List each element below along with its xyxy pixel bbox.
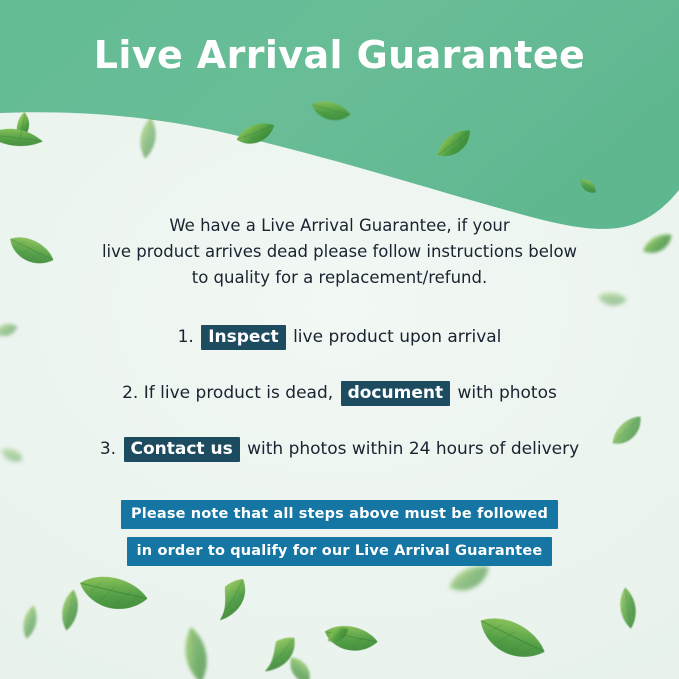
live-arrival-guarantee-poster: Live Arrival Guarantee We have a Live Ar… <box>0 0 679 679</box>
step-3-post-text: with photos within 24 hours of delivery <box>247 439 579 459</box>
intro-line-1: We have a Live Arrival Guarantee, if you… <box>0 213 679 239</box>
footer-note-line-2: in order to qualify for our Live Arrival… <box>127 537 553 566</box>
step-2-post-text: with photos <box>458 383 557 403</box>
step-item-2: 2. If live product is dead, document wit… <box>0 378 679 434</box>
content-area: We have a Live Arrival Guarantee, if you… <box>0 0 679 679</box>
intro-line-3: to quality for a replacement/refund. <box>0 265 679 291</box>
footer-note-line-1: Please note that all steps above must be… <box>121 500 558 529</box>
step-2-number: 2. <box>122 383 138 403</box>
step-item-3: 3. Contact us with photos within 24 hour… <box>0 434 679 490</box>
step-2-pre-text: If live product is dead, <box>144 383 333 403</box>
step-1-number: 1. <box>178 327 194 347</box>
intro-line-2: live product arrives dead please follow … <box>0 239 679 265</box>
step-3-highlight: Contact us <box>124 437 240 462</box>
step-1-post-text: live product upon arrival <box>293 327 501 347</box>
steps-list: 1. Inspect live product upon arrival 2. … <box>0 322 679 490</box>
step-2-highlight: document <box>341 381 451 406</box>
step-1-highlight: Inspect <box>201 325 285 350</box>
footer-note: Please note that all steps above must be… <box>0 500 679 566</box>
intro-paragraph: We have a Live Arrival Guarantee, if you… <box>0 213 679 291</box>
step-item-1: 1. Inspect live product upon arrival <box>0 322 679 378</box>
step-3-number: 3. <box>100 439 116 459</box>
